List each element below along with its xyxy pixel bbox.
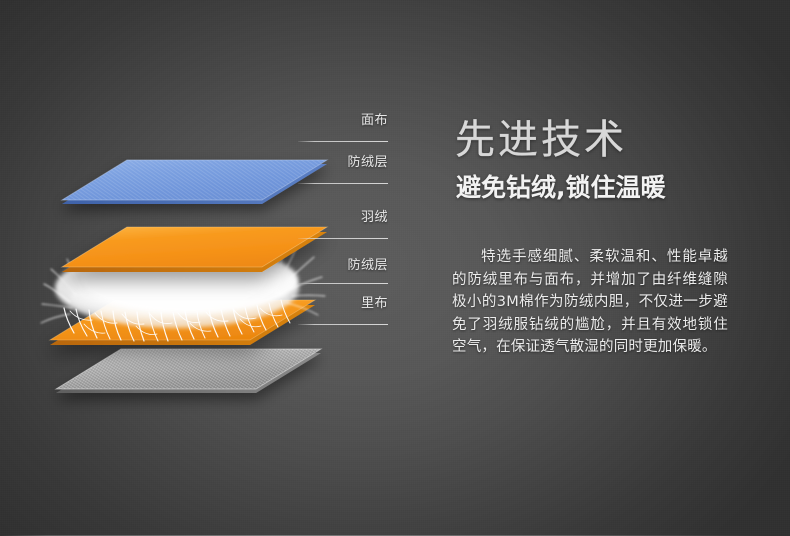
leader-line-down-fill: [298, 238, 388, 239]
page-title: 先进技术: [455, 117, 627, 163]
body-paragraph: 特选手感细腻、柔软温和、性能卓越的防绒里布与面布，并增加了由纤维缝隙极小的3M棉…: [452, 246, 728, 359]
layer-inner-lining: [56, 349, 321, 393]
leader-line-downproof-liner-upper: [298, 183, 388, 184]
layer-label-inner-lining: 里布: [318, 296, 388, 311]
page-subtitle: 避免钻绒,锁住温暖: [456, 172, 666, 204]
layer-downproof-liner-upper: [62, 227, 327, 272]
leader-line-downproof-liner-lower: [298, 283, 388, 284]
poster-canvas: 面布 防绒层 羽绒 防绒层 里布 先进技术 避免钻绒,锁住温暖 特选手感细腻、柔…: [0, 0, 790, 536]
layer-label-shell-fabric: 面布: [318, 113, 388, 128]
layer-label-downproof-liner-lower: 防绒层: [308, 258, 388, 273]
layer-shell-fabric: [62, 160, 327, 204]
leader-line-shell-fabric: [298, 141, 388, 142]
layer-label-downproof-liner-upper: 防绒层: [308, 155, 388, 170]
leader-line-inner-lining: [298, 324, 388, 325]
layer-label-down-fill: 羽绒: [318, 210, 388, 225]
